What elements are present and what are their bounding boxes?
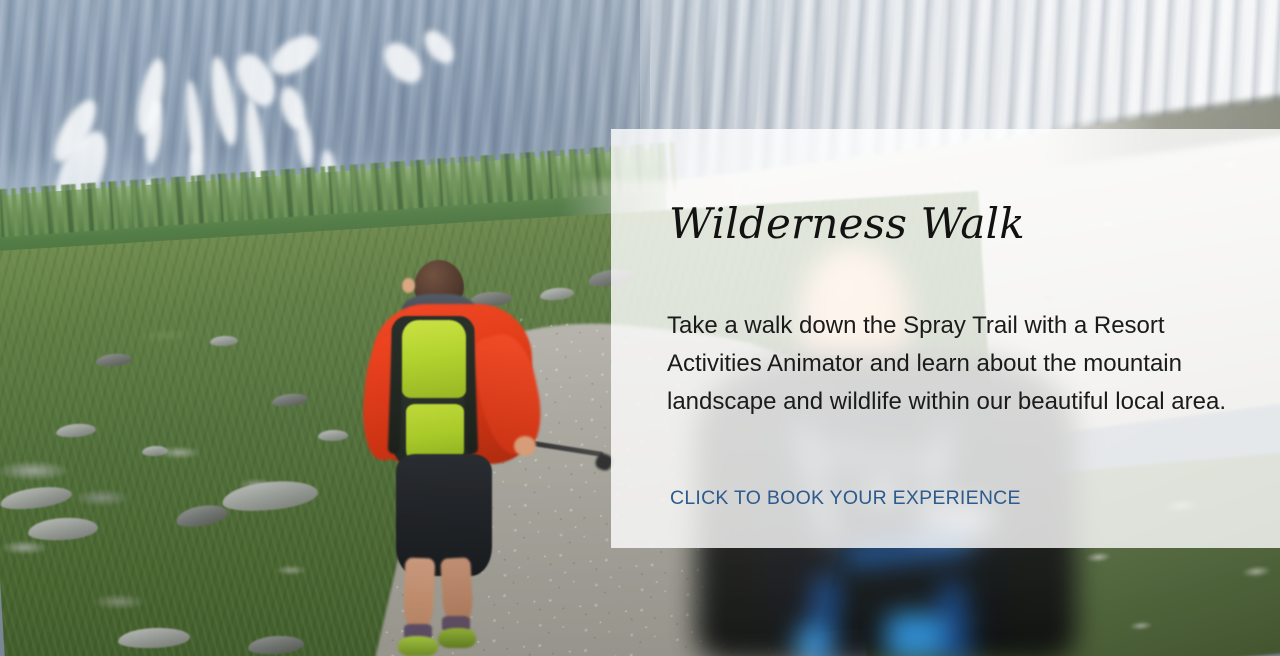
hiker-ear <box>402 278 415 293</box>
hiker-right-leg <box>440 557 473 624</box>
backpack-top-pocket <box>402 320 466 398</box>
foreground-blue-highlight <box>886 613 944 656</box>
foreground-rocky-verge-left <box>0 430 420 656</box>
hiker-left-shoe <box>398 636 438 656</box>
hero-banner: Wilderness Walk Take a walk down the Spr… <box>0 0 1280 656</box>
page-title: Wilderness Walk <box>669 203 1025 245</box>
hiker-figure <box>360 258 580 656</box>
hero-content-panel: Wilderness Walk Take a walk down the Spr… <box>611 129 1280 548</box>
book-experience-link[interactable]: CLICK TO BOOK YOUR EXPERIENCE <box>670 489 1021 509</box>
hero-description: Take a walk down the Spray Trail with a … <box>667 307 1229 421</box>
hiker-hand <box>514 436 536 456</box>
hiker-right-shoe <box>438 628 476 648</box>
hiker-left-leg <box>403 557 435 630</box>
foreground-blue-highlight <box>796 627 830 656</box>
